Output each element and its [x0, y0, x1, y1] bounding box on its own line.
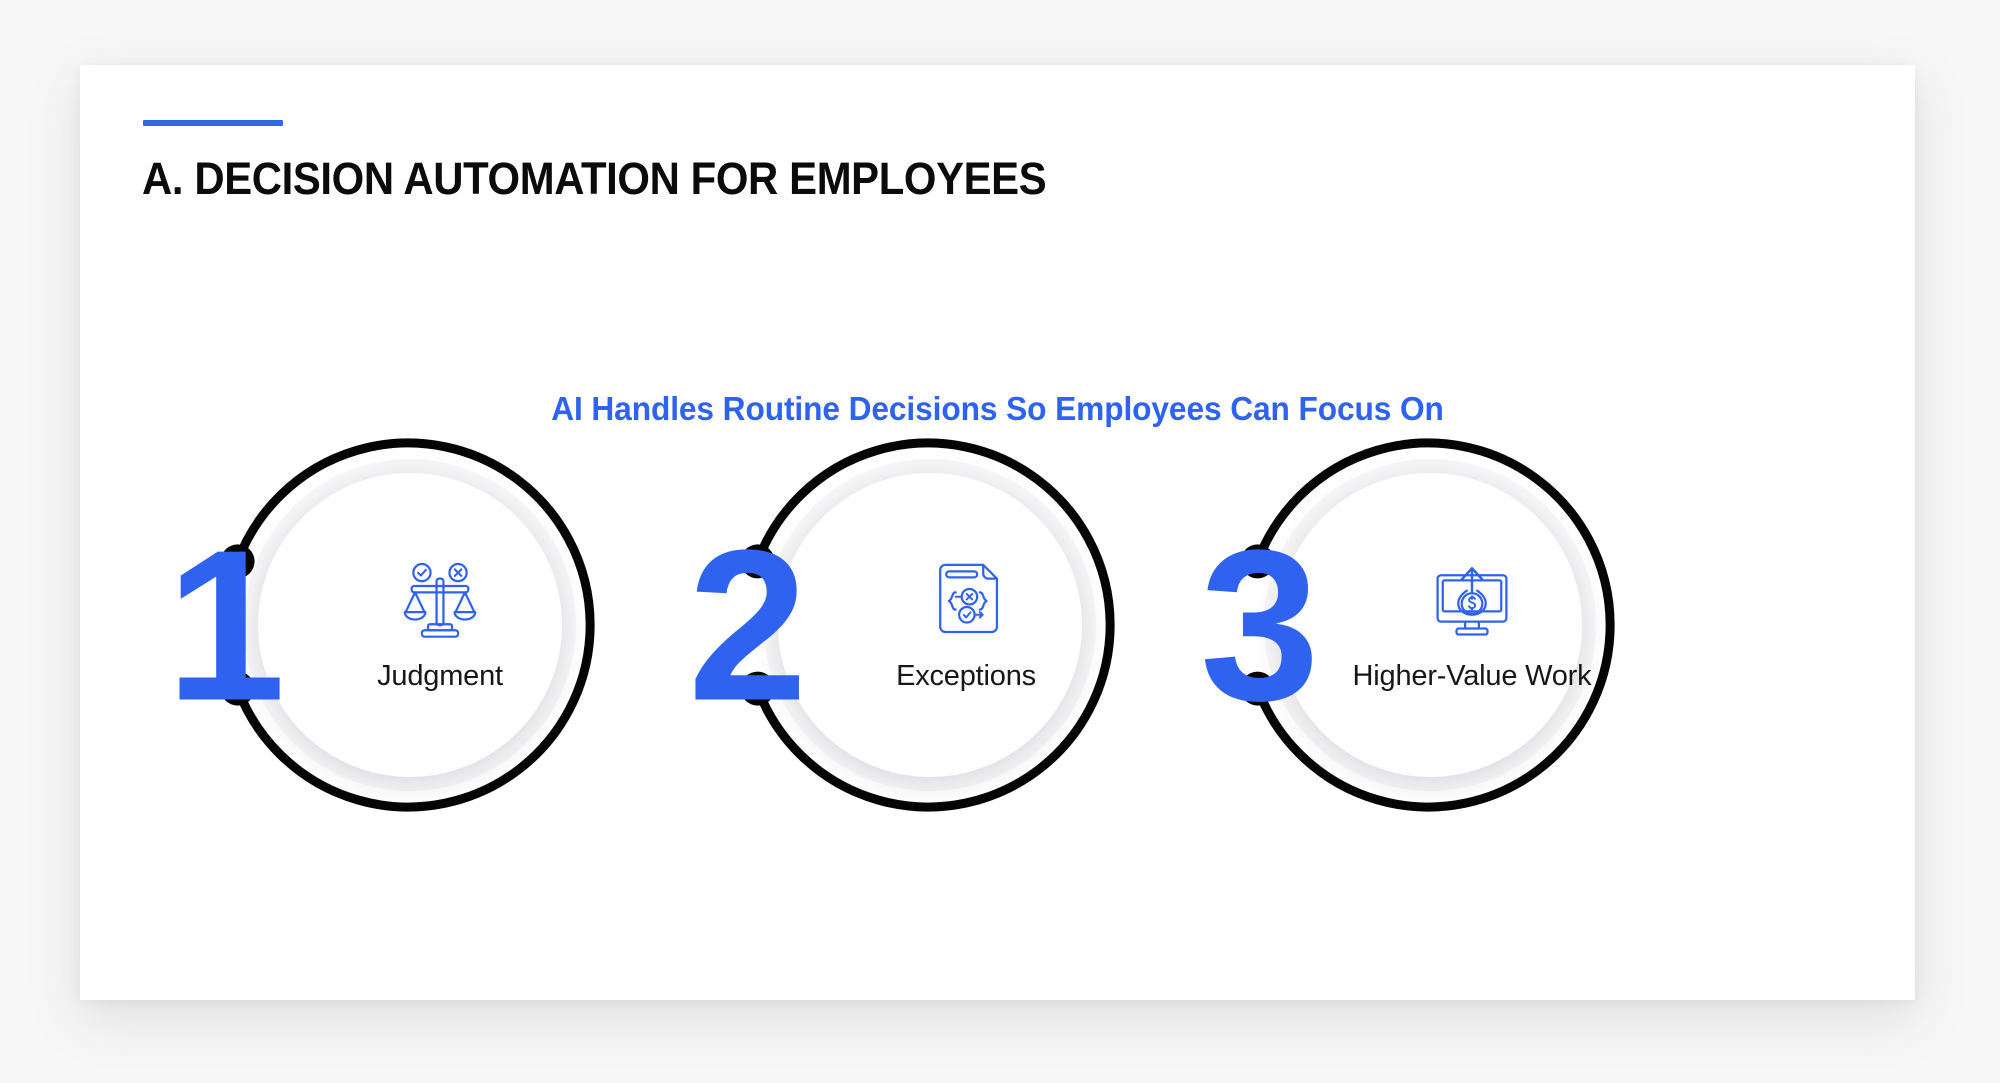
step-item-2[interactable]: 2	[730, 425, 1130, 825]
step-label-1: Judgment	[377, 660, 503, 693]
step-content-2: Exceptions	[816, 425, 1116, 825]
slide-stage: A. DECISION AUTOMATION FOR EMPLOYEES AI …	[0, 0, 2000, 1083]
slide-subtitle: AI Handles Routine Decisions So Employee…	[117, 390, 1879, 428]
step-number-1: 1	[166, 518, 280, 733]
balance-scales-icon	[397, 558, 483, 644]
step-item-3[interactable]: 3	[1230, 425, 1630, 825]
step-number-3: 3	[1200, 518, 1314, 733]
monitor-money-growth-icon	[1429, 558, 1515, 644]
step-content-3: Higher-Value Work	[1322, 425, 1622, 825]
slide-card: A. DECISION AUTOMATION FOR EMPLOYEES AI …	[80, 65, 1915, 1000]
step-label-2: Exceptions	[896, 660, 1036, 693]
page-title: A. DECISION AUTOMATION FOR EMPLOYEES	[142, 153, 1046, 205]
step-content-1: Judgment	[290, 425, 590, 825]
title-accent-bar	[143, 120, 283, 126]
step-number-2: 2	[688, 518, 802, 733]
step-label-3: Higher-Value Work	[1353, 660, 1592, 693]
exception-rules-document-icon	[923, 558, 1009, 644]
steps-row: 1	[80, 425, 1915, 825]
step-item-1[interactable]: 1	[210, 425, 610, 825]
